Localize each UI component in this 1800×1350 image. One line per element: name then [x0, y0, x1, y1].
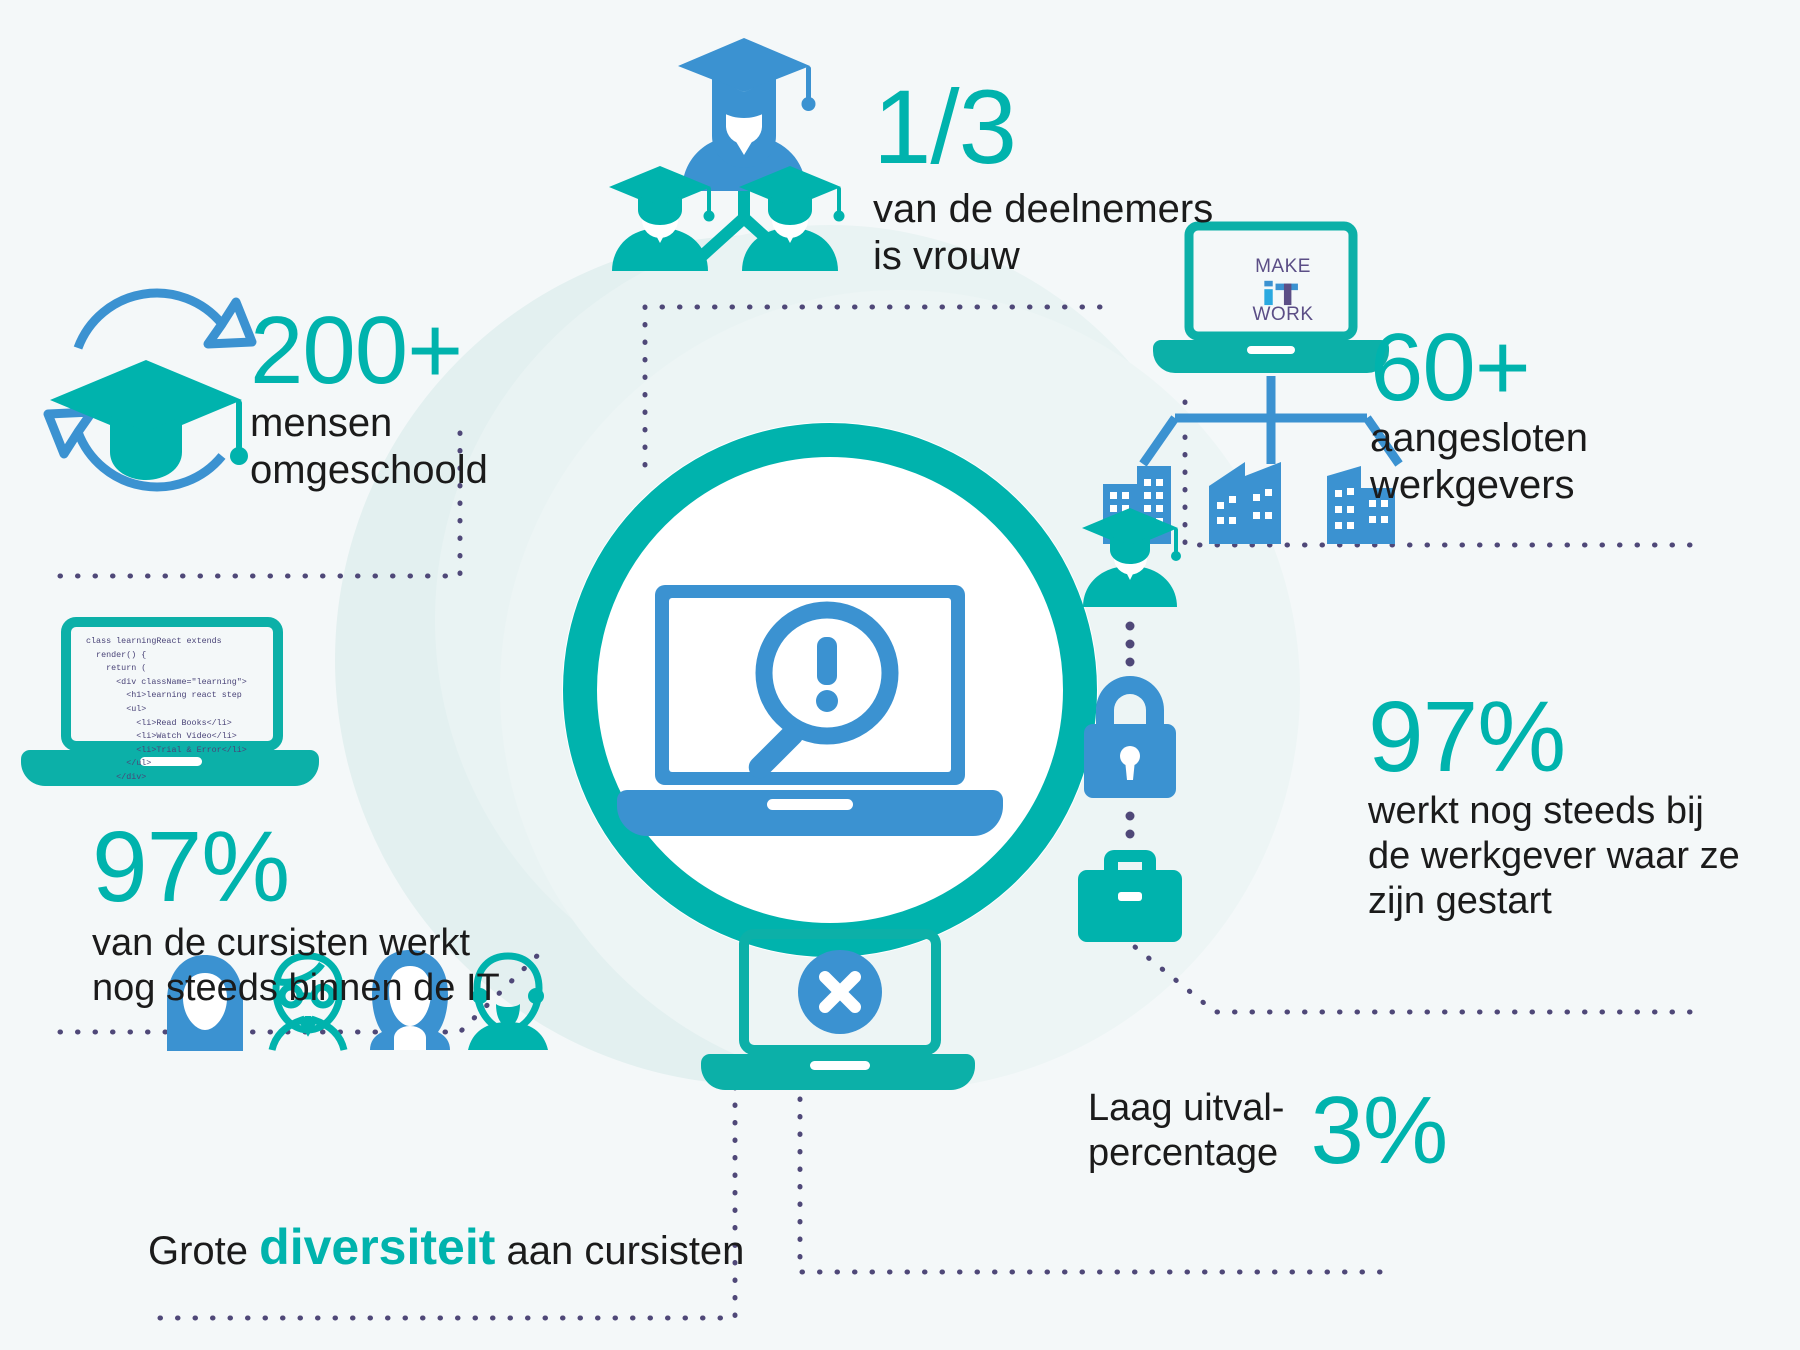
- diversity-caption: Grote diversiteit aan cursisten: [148, 1218, 744, 1276]
- diversity-prefix: Grote: [148, 1229, 248, 1273]
- diversity-suffix: aan cursisten: [507, 1229, 745, 1273]
- stat-caption-same-employer: werkt nog steeds bij de werkgever waar z…: [1368, 789, 1740, 923]
- stat-value-still-in-it: 97%: [92, 820, 500, 915]
- stat-dropout: Laag uitval- percentage 3%: [1088, 1085, 1447, 1176]
- stat-value-dropout: 3%: [1310, 1085, 1447, 1176]
- stat-value-retrained: 200+: [250, 305, 488, 396]
- stat-women-share: 1/3 van de deelnemers is vrouw: [873, 78, 1213, 280]
- stat-caption-women-share: van de deelnemers is vrouw: [873, 186, 1213, 280]
- stat-caption-dropout: Laag uitval- percentage: [1088, 1086, 1284, 1176]
- stat-caption-still-in-it: van de cursisten werkt nog steeds binnen…: [92, 921, 500, 1011]
- stat-value-women-share: 1/3: [873, 78, 1213, 178]
- stat-same-employer: 97% werkt nog steeds bij de werkgever wa…: [1368, 690, 1740, 923]
- stat-employers: 60+ aangesloten werkgevers: [1370, 322, 1800, 510]
- stat-still-in-it: 97% van de cursisten werkt nog steeds bi…: [92, 820, 500, 1011]
- stat-retrained: 200+ mensen omgeschoold: [250, 305, 488, 495]
- stat-caption-retrained: mensen omgeschoold: [250, 400, 488, 494]
- stat-value-employers: 60+: [1370, 322, 1800, 413]
- stat-value-same-employer: 97%: [1368, 690, 1740, 785]
- stat-caption-employers: aangesloten werkgevers: [1370, 415, 1800, 509]
- infographic-canvas: MAKE WORK: [0, 0, 1800, 1350]
- diversity-highlight: diversiteit: [259, 1219, 495, 1275]
